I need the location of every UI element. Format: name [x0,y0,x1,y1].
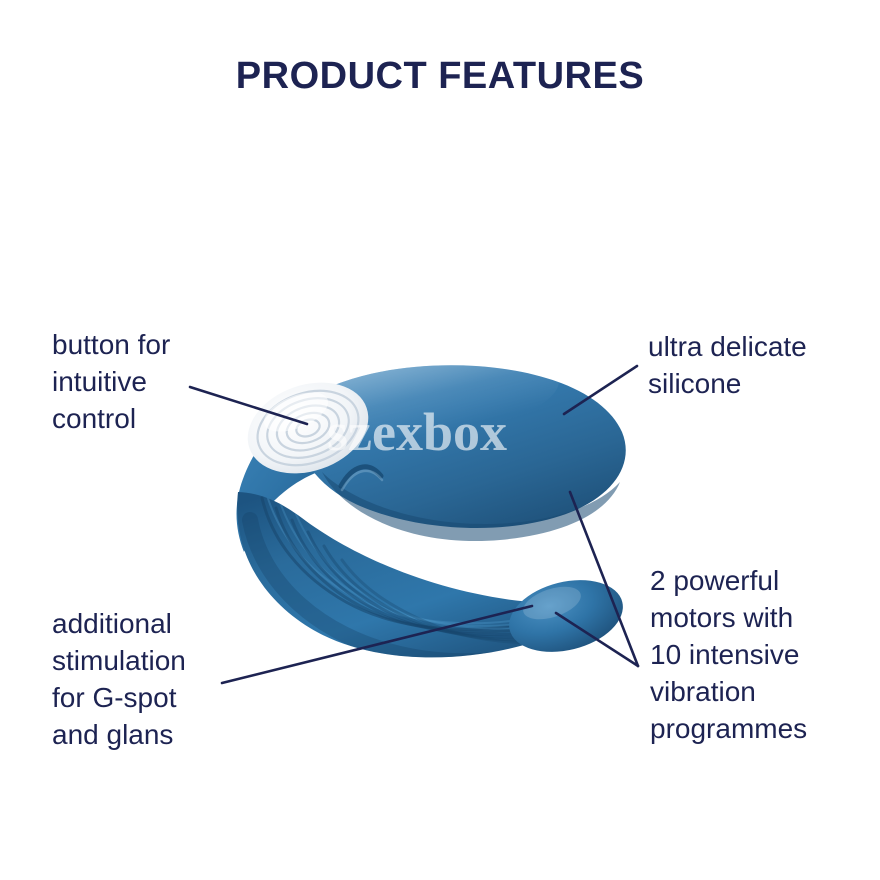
callout-button-for-intuitive-control: button for intuitive control [52,327,282,438]
callout-additional-stimulation-for-g-spot-and-glans: additional stimulation for G-spot and gl… [52,606,292,754]
callout-two-powerful-motors-with-ten-intensive-vibration-programmes: 2 powerful motors with 10 intensive vibr… [650,563,880,748]
callout-ultra-delicate-silicone: ultra delicate silicone [648,329,880,403]
product-body [235,340,630,663]
product-features-infographic: PRODUCT FEATURES [0,0,880,880]
